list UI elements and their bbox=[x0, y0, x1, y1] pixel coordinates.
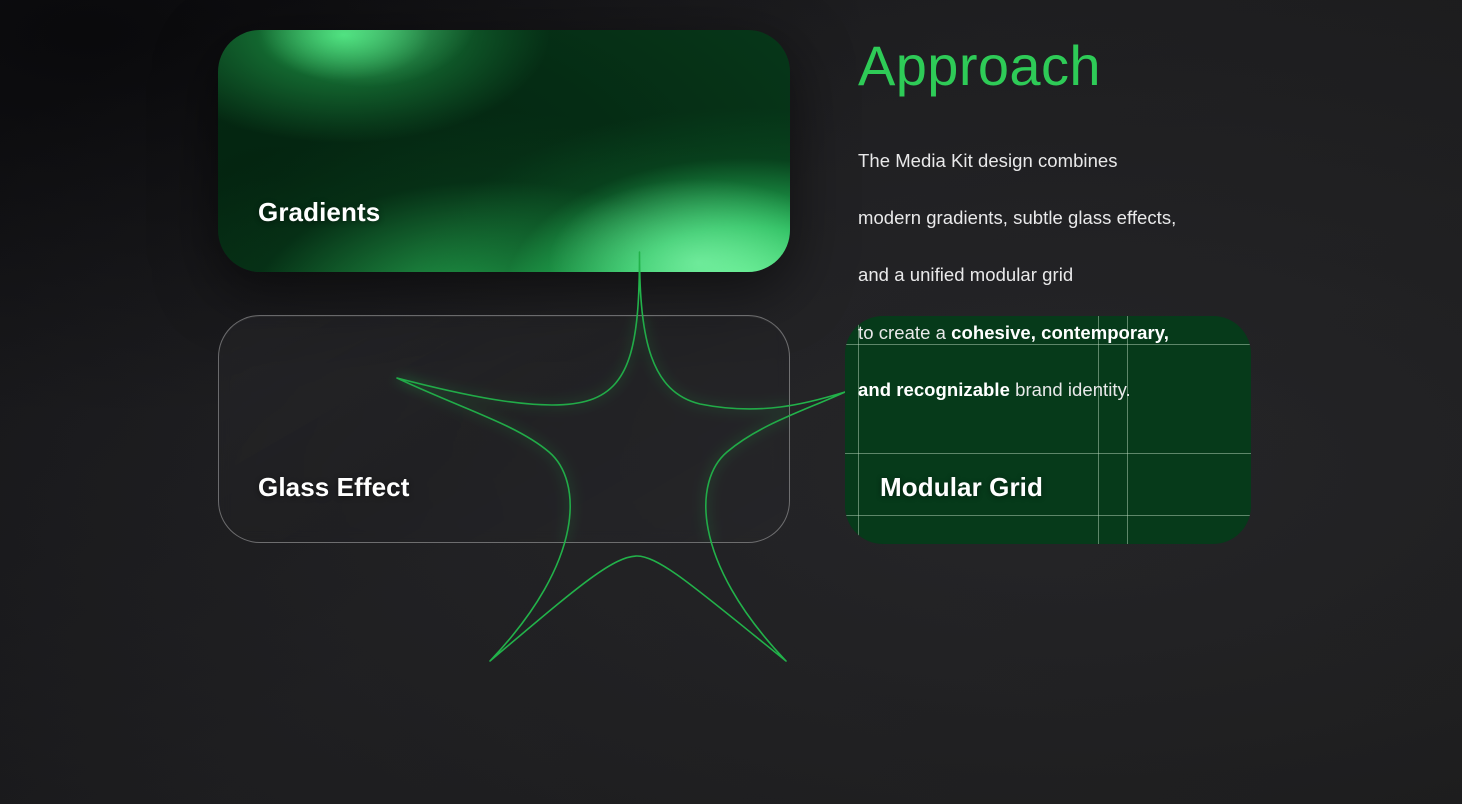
approach-line-3: and a unified modular grid bbox=[858, 264, 1073, 285]
approach-title: Approach bbox=[858, 36, 1278, 96]
slide-canvas: Gradients Glass Effect Modular Grid Appr… bbox=[0, 0, 1462, 804]
grid-line-horizontal bbox=[845, 515, 1251, 516]
approach-line-1: The Media Kit design combines bbox=[858, 150, 1118, 171]
approach-line-2: modern gradients, subtle glass effects, bbox=[858, 207, 1176, 228]
card-gradients[interactable] bbox=[218, 30, 790, 272]
card-label-glass-effect: Glass Effect bbox=[258, 472, 410, 503]
card-label-gradients: Gradients bbox=[258, 197, 380, 228]
approach-body: The Media Kit design combines modern gra… bbox=[858, 118, 1278, 404]
approach-line-4-bold: cohesive, contemporary, bbox=[951, 322, 1169, 343]
grid-line-horizontal bbox=[845, 453, 1251, 454]
approach-line-4-plain: to create a bbox=[858, 322, 951, 343]
card-glass-effect[interactable] bbox=[218, 315, 790, 543]
approach-line-5-plain: brand identity. bbox=[1010, 379, 1131, 400]
approach-line-5-bold: and recognizable bbox=[858, 379, 1010, 400]
approach-panel: Approach The Media Kit design combines m… bbox=[858, 36, 1278, 404]
card-label-modular-grid: Modular Grid bbox=[880, 472, 1043, 503]
